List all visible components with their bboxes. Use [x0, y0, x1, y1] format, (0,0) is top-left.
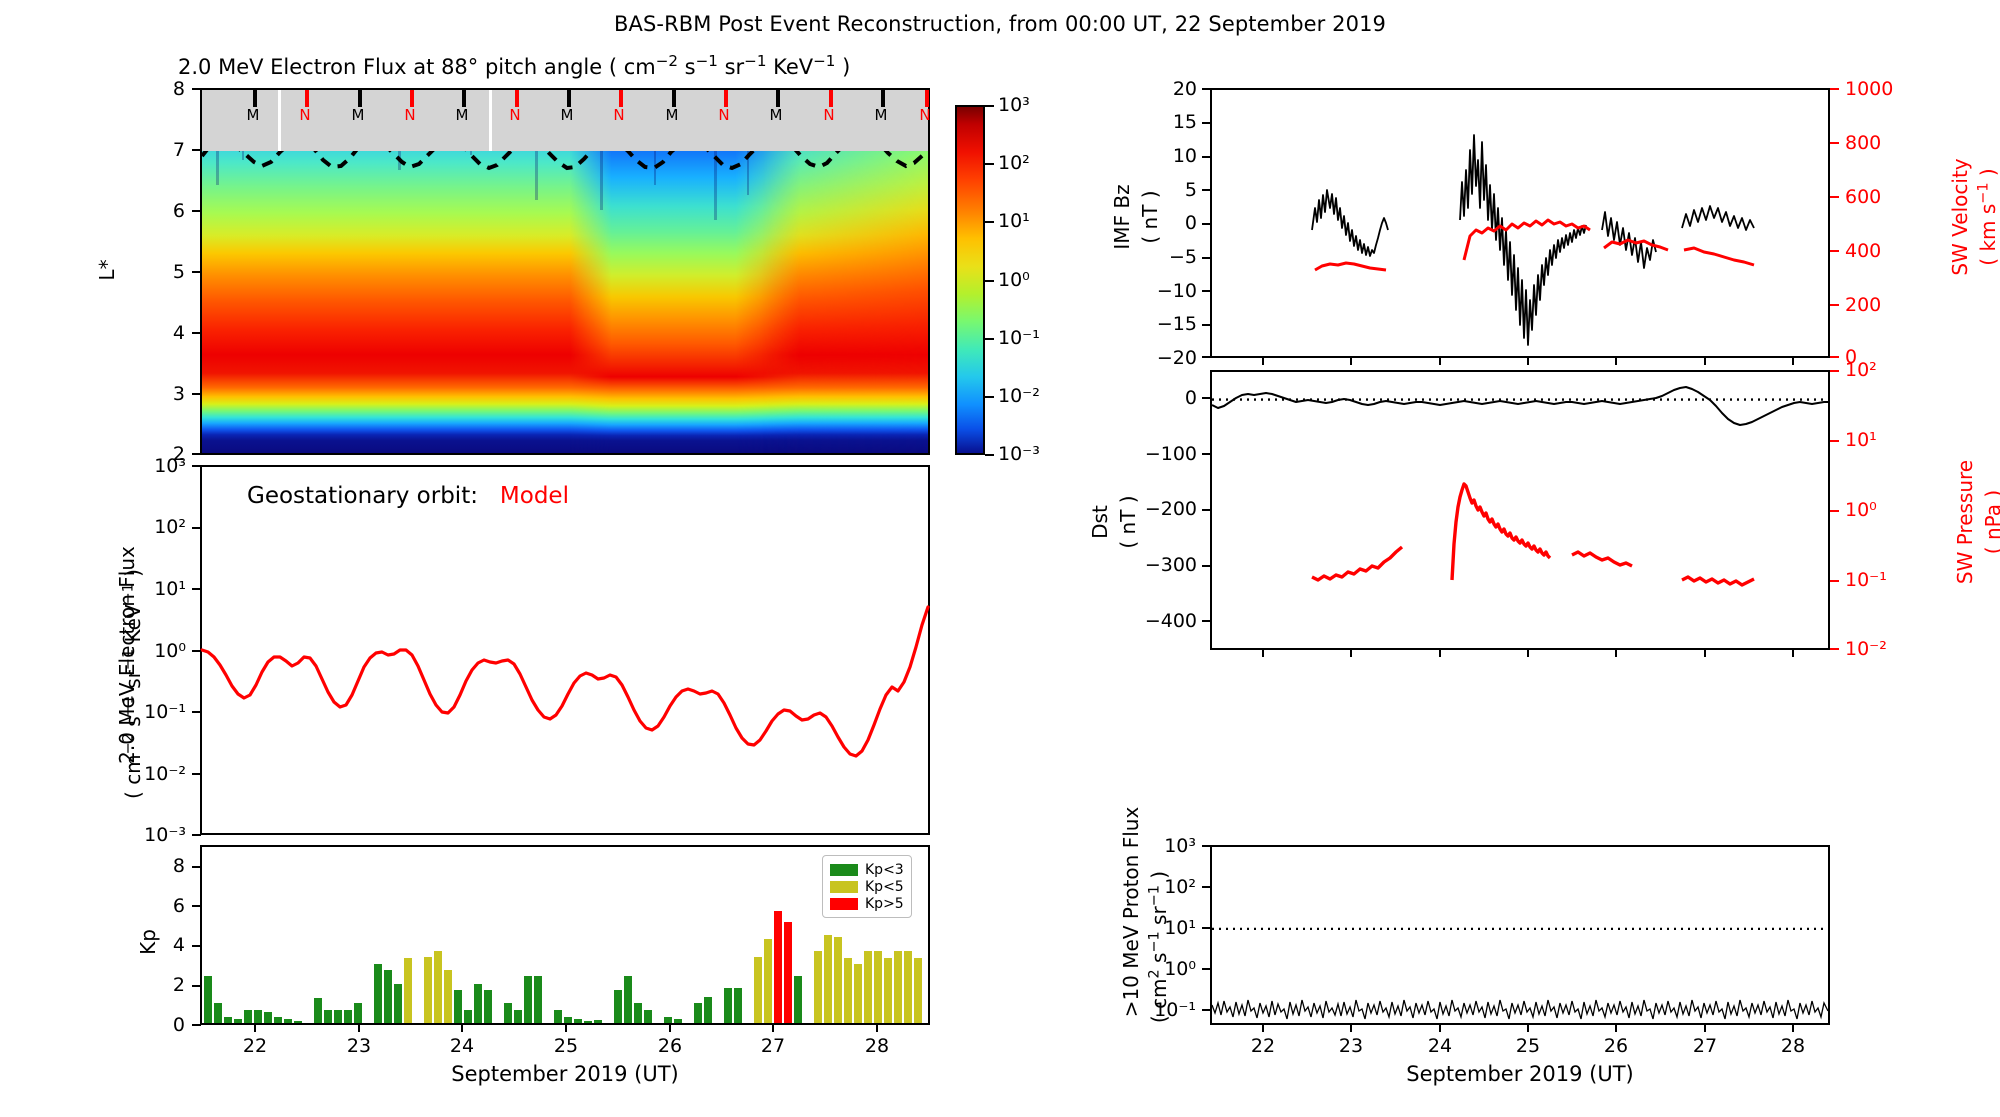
geo-flux-plot	[202, 467, 928, 833]
dst-xtick-mark	[1350, 649, 1352, 657]
kp-xtick-mark	[254, 1023, 256, 1032]
proton-ytick-mark	[1202, 927, 1211, 929]
ytick-swp-m2: 10⁻²	[1845, 638, 1935, 660]
mn-tick-n	[305, 90, 309, 107]
cbar-tick	[985, 163, 994, 165]
geo-yl-e1: −2	[120, 733, 136, 754]
proton-ylabel-line2: ( cm2 s−1 sr−1 )	[1147, 777, 1171, 1117]
mn-tick-m	[358, 90, 362, 107]
dst-xtick-mark	[1527, 649, 1529, 657]
kp-legend-item: Kp>5	[830, 895, 904, 912]
exp-kev: −1	[813, 52, 835, 70]
kp-xtick-mark	[565, 1023, 567, 1032]
imf-ylabel-line1: IMF Bz	[1110, 142, 1134, 292]
xtick-kp-23: 23	[339, 1035, 379, 1057]
mn-label-m: M	[766, 106, 786, 124]
kp-xtick-mark	[772, 1023, 774, 1032]
xtick-proton-24: 24	[1420, 1035, 1460, 1057]
exp-s: −1	[696, 52, 718, 70]
colorbar	[955, 105, 985, 455]
dst-xtick-mark	[1262, 649, 1264, 657]
proton-xtick-mark	[1527, 1023, 1529, 1032]
ytick-imf-15: 15	[1135, 111, 1197, 133]
proton-yl-b: s	[1147, 953, 1171, 970]
kp-xtick-mark	[876, 1023, 878, 1032]
dst-series	[1212, 387, 1828, 425]
mn-label-m: M	[348, 106, 368, 124]
mn-tick-n	[724, 90, 728, 107]
dst-xtick-mark	[1792, 649, 1794, 657]
swv-yl-b: )	[1976, 168, 2000, 182]
sw-velocity-series-4	[1684, 248, 1754, 265]
xtick-proton-27: 27	[1685, 1035, 1725, 1057]
cbar-label-2: 10²	[998, 152, 1068, 174]
ytick-imf-20: 20	[1135, 78, 1197, 100]
geo-ytick-mark	[192, 834, 201, 836]
sw-pressure-series-4	[1682, 577, 1754, 585]
kp-xtick-mark	[358, 1023, 360, 1032]
colorbar-gradient	[957, 107, 983, 453]
proton-flux-series	[1212, 1000, 1828, 1019]
spectrogram-title-e: KeV	[766, 55, 813, 79]
mn-label-n: N	[714, 106, 734, 124]
sw-velocity-series	[1315, 263, 1386, 270]
ytick-swv-1000: 1000	[1845, 78, 1935, 100]
mn-label-n: N	[819, 106, 839, 124]
dst-ytick-mark	[1202, 620, 1211, 622]
mn-label-n: N	[400, 106, 420, 124]
geo-yl-b: s	[121, 716, 145, 733]
geo-ytick-mark	[192, 773, 201, 775]
geo-yl-c: sr	[121, 670, 145, 695]
imf-ytick-mark	[1202, 356, 1211, 358]
kp-axes	[200, 845, 930, 1025]
kp-legend-swatch-mid	[830, 881, 858, 893]
kp-legend-label-low: Kp<3	[865, 862, 904, 878]
mn-label-n: N	[505, 106, 525, 124]
proton-yl-a: ( cm	[1147, 978, 1171, 1023]
sw-pressure-ylabel-line2: ( nPa )	[1981, 412, 2000, 632]
spectrogram-title-c: s	[678, 55, 696, 79]
dst-ytick-mark	[1202, 509, 1211, 511]
imf-ytick-mark	[1202, 122, 1211, 124]
imf-xtick-mark	[1527, 357, 1529, 365]
cbar-label-m2: 10⁻²	[998, 385, 1068, 407]
geo-ytick-mark	[192, 711, 201, 713]
spec-ytick-mark	[192, 393, 201, 395]
xtick-kp-27: 27	[753, 1035, 793, 1057]
geo-flux-ylabel-line2: ( cm−2 s−1 sr−1 KeV−1 )	[121, 499, 145, 869]
dst-plot	[1212, 372, 1828, 648]
proton-ylabel-line1: >10 MeV Proton Flux	[1119, 742, 1143, 1082]
proton-ytick-mark	[1202, 968, 1211, 970]
proton-xtick-mark	[1350, 1023, 1352, 1032]
geo-flux-axes	[200, 465, 930, 835]
proton-ytick-mark	[1202, 845, 1211, 847]
proton-xtick-mark	[1262, 1023, 1264, 1032]
geo-yl-e4: −1	[120, 583, 136, 604]
kp-ytick-mark	[192, 945, 201, 947]
mn-tick-n	[829, 90, 833, 107]
ytick-spec-6: 6	[140, 200, 185, 222]
mn-label-n: N	[609, 106, 629, 124]
ytick-spec-7: 7	[140, 139, 185, 161]
mn-tick-m	[672, 90, 676, 107]
imf-plot	[1212, 90, 1828, 356]
mn-tick-n	[925, 90, 929, 107]
xtick-kp-24: 24	[442, 1035, 482, 1057]
exp-cm: −2	[656, 52, 678, 70]
geo-annotation-model: Model	[500, 483, 569, 509]
imf-ytick-mark	[1202, 156, 1211, 158]
mn-tick-n	[619, 90, 623, 107]
ytick-kp-8: 8	[145, 855, 185, 877]
sw-velocity-ylabel-line1: SW Velocity	[1948, 122, 1972, 312]
dst-xtick-mark	[1439, 649, 1441, 657]
imf-ytick-mark	[1202, 88, 1211, 90]
mn-label-m: M	[871, 106, 891, 124]
ytick-spec-3: 3	[140, 383, 185, 405]
cbar-label-1: 10¹	[998, 210, 1068, 232]
kp-ytick-mark	[192, 1024, 201, 1026]
ytick-spec-5: 5	[140, 261, 185, 283]
dst-ylabel-line2: ( nT )	[1116, 462, 1140, 582]
cbar-label-m1: 10⁻¹	[998, 327, 1068, 349]
xtick-proton-28: 28	[1773, 1035, 1813, 1057]
dst-ylabel-line1: Dst	[1088, 462, 1112, 582]
cbar-tick	[985, 338, 994, 340]
ytick-dst-m400: −400	[1095, 610, 1197, 632]
imf-xtick-mark	[1262, 357, 1264, 365]
sw-pressure-series-2	[1452, 484, 1550, 580]
xtick-proton-26: 26	[1596, 1035, 1636, 1057]
kp-xtick-mark	[461, 1023, 463, 1032]
kp-legend: Kp<3 Kp<5 Kp>5	[822, 855, 912, 918]
mn-label-m: M	[243, 106, 263, 124]
swv-yl-a: ( km s	[1976, 204, 2000, 266]
sw-pressure-series-3	[1572, 552, 1632, 566]
swv-ytick-mark	[1830, 196, 1839, 198]
spec-ytick-mark	[192, 210, 201, 212]
kp-ytick-mark	[192, 905, 201, 907]
cbar-label-3: 10³	[998, 94, 1068, 116]
xtick-kp-22: 22	[235, 1035, 275, 1057]
spec-ytick-mark	[192, 332, 201, 334]
spec-ytick-mark	[192, 88, 201, 90]
proton-ytick-mark	[1202, 1009, 1211, 1011]
kp-bars	[202, 847, 928, 1023]
geo-annotation-static: Geostationary orbit:	[247, 483, 478, 509]
kp-legend-label-mid: Kp<5	[865, 879, 904, 895]
mn-tick-m	[253, 90, 257, 107]
spectrogram-title-f: )	[835, 55, 850, 79]
ytick-swp-2: 10²	[1845, 359, 1935, 381]
imf-bz-series	[1312, 190, 1388, 256]
imf-xtick-mark	[1792, 357, 1794, 365]
mn-label-n: N	[915, 106, 935, 124]
kp-ytick-mark	[192, 866, 201, 868]
proton-yl-e3: −1	[1146, 885, 1162, 906]
geo-yl-e2: −1	[120, 695, 136, 716]
proton-xtick-mark	[1792, 1023, 1794, 1032]
proton-axes	[1210, 845, 1830, 1025]
geo-flux-line	[202, 607, 928, 756]
geo-ytick-mark	[192, 465, 201, 467]
kp-legend-item: Kp<5	[830, 878, 904, 895]
xtick-kp-25: 25	[546, 1035, 586, 1057]
kp-legend-swatch-high	[830, 898, 858, 910]
swv-yl-e: −1	[1975, 182, 1991, 203]
xtick-kp-28: 28	[857, 1035, 897, 1057]
proton-yl-e1: 2	[1146, 969, 1162, 978]
imf-ytick-mark	[1202, 324, 1211, 326]
imf-xtick-mark	[1615, 357, 1617, 365]
ytick-spec-8: 8	[140, 78, 185, 100]
mn-label-m: M	[557, 106, 577, 124]
geo-annotation: Geostationary orbit: Model	[247, 483, 569, 509]
ytick-swv-400: 400	[1845, 240, 1935, 262]
ytick-swv-600: 600	[1845, 186, 1935, 208]
xtick-proton-25: 25	[1508, 1035, 1548, 1057]
cbar-label-m3: 10⁻³	[998, 443, 1068, 465]
proton-xtick-mark	[1615, 1023, 1617, 1032]
dst-ytick-mark	[1202, 453, 1211, 455]
ytick-swp-1: 10¹	[1845, 429, 1935, 451]
geo-yl-a: ( cm	[121, 754, 145, 799]
kp-legend-label-high: Kp>5	[865, 896, 904, 912]
spectrogram-title-a: 2.0 MeV Electron Flux at 88	[178, 55, 468, 79]
imf-ylabel-line2: ( nT )	[1138, 142, 1162, 292]
spec-ytick-mark	[192, 149, 201, 151]
sw-pressure-ylabel-line1: SW Pressure	[1953, 412, 1977, 632]
ytick-swp-m1: 10⁻¹	[1845, 569, 1935, 591]
imf-ytick-mark	[1202, 257, 1211, 259]
mn-tick-n	[410, 90, 414, 107]
spectrogram-title-d: sr	[718, 55, 744, 79]
mn-separator	[489, 90, 492, 151]
dst-ytick-mark	[1202, 565, 1211, 567]
ytick-kp-0: 0	[145, 1014, 185, 1036]
mn-tick-m	[881, 90, 885, 107]
swp-ytick-mark	[1830, 370, 1839, 372]
imf-xtick-mark	[1350, 357, 1352, 365]
proton-plot	[1212, 847, 1828, 1023]
geo-yl-e3: −1	[120, 649, 136, 670]
ytick-imf-m15: −15	[1135, 313, 1197, 335]
ytick-dst-0: 0	[1095, 387, 1197, 409]
spectrogram-ylabel: L*	[95, 225, 119, 315]
mn-separator	[278, 90, 281, 151]
imf-axes	[1210, 88, 1830, 358]
ytick-swp-0: 10⁰	[1845, 499, 1935, 521]
swp-ytick-mark	[1830, 440, 1839, 442]
exp-sr: −1	[744, 52, 766, 70]
mn-label-n: N	[295, 106, 315, 124]
sw-pressure-series	[1312, 547, 1402, 580]
geo-ytick-mark	[192, 588, 201, 590]
ytick-swv-200: 200	[1845, 294, 1935, 316]
spectrogram-title: 2.0 MeV Electron Flux at 88° pitch angle…	[178, 55, 850, 79]
imf-ytick-mark	[1202, 290, 1211, 292]
kp-xlabel: September 2019 (UT)	[400, 1062, 730, 1086]
imf-bz-series-4	[1682, 206, 1754, 230]
spec-ytick-mark	[192, 453, 201, 455]
figure-suptitle: BAS-RBM Post Event Reconstruction, from …	[0, 12, 2000, 36]
geo-ytick-mark	[192, 650, 201, 652]
dst-axes	[1210, 370, 1830, 650]
dst-xtick-mark	[1615, 649, 1617, 657]
swv-ytick-mark	[1830, 356, 1839, 358]
imf-bz-series-2	[1460, 135, 1586, 345]
mn-label-m: M	[452, 106, 472, 124]
dst-ytick-mark	[1202, 397, 1211, 399]
swv-ytick-mark	[1830, 142, 1839, 144]
swp-ytick-mark	[1830, 580, 1839, 582]
sw-velocity-ylabel-line2: ( km s−1 )	[1976, 122, 2000, 312]
cbar-tick	[985, 396, 994, 398]
imf-ytick-mark	[1202, 223, 1211, 225]
kp-ytick-mark	[192, 985, 201, 987]
cbar-tick	[985, 454, 994, 456]
imf-ytick-mark	[1202, 189, 1211, 191]
xtick-kp-26: 26	[650, 1035, 690, 1057]
mn-tick-m	[567, 90, 571, 107]
kp-ylabel: Kp	[136, 897, 160, 987]
mn-tick-n	[515, 90, 519, 107]
geo-ytick-mark	[192, 527, 201, 529]
swv-ytick-mark	[1830, 88, 1839, 90]
proton-xtick-mark	[1439, 1023, 1441, 1032]
proton-yl-e2: −1	[1146, 931, 1162, 952]
swp-ytick-mark	[1830, 510, 1839, 512]
proton-yl-d: )	[1147, 871, 1171, 885]
degree-icon: °	[468, 55, 479, 79]
swv-ytick-mark	[1830, 250, 1839, 252]
geo-yl-d: KeV	[121, 604, 145, 648]
xtick-proton-23: 23	[1331, 1035, 1371, 1057]
proton-xtick-mark	[1704, 1023, 1706, 1032]
proton-yl-c: sr	[1147, 906, 1171, 931]
imf-xtick-mark	[1439, 357, 1441, 365]
mn-tick-m	[776, 90, 780, 107]
kp-legend-item: Kp<3	[830, 861, 904, 878]
xtick-proton-22: 22	[1243, 1035, 1283, 1057]
swv-ytick-mark	[1830, 304, 1839, 306]
proton-ytick-mark	[1202, 886, 1211, 888]
imf-xtick-mark	[1704, 357, 1706, 365]
kp-xtick-mark	[669, 1023, 671, 1032]
spectrogram-title-b: pitch angle ( cm	[478, 55, 655, 79]
mn-label-m: M	[662, 106, 682, 124]
proton-xlabel: September 2019 (UT)	[1355, 1062, 1685, 1086]
kp-legend-swatch-low	[830, 864, 858, 876]
swp-ytick-mark	[1830, 648, 1839, 650]
cbar-tick	[985, 280, 994, 282]
geo-yl-f: )	[121, 569, 145, 583]
mn-tick-m	[462, 90, 466, 107]
cbar-tick	[985, 221, 994, 223]
ytick-swv-800: 800	[1845, 132, 1935, 154]
kp-bar-group	[204, 911, 922, 1023]
figure-canvas: BAS-RBM Post Event Reconstruction, from …	[0, 0, 2000, 1100]
cbar-tick	[985, 105, 994, 107]
ytick-spec-4: 4	[140, 322, 185, 344]
ytick-imf-m20: −20	[1135, 347, 1197, 369]
cbar-label-0: 10⁰	[998, 269, 1068, 291]
spec-ytick-mark	[192, 271, 201, 273]
dst-xtick-mark	[1704, 649, 1706, 657]
